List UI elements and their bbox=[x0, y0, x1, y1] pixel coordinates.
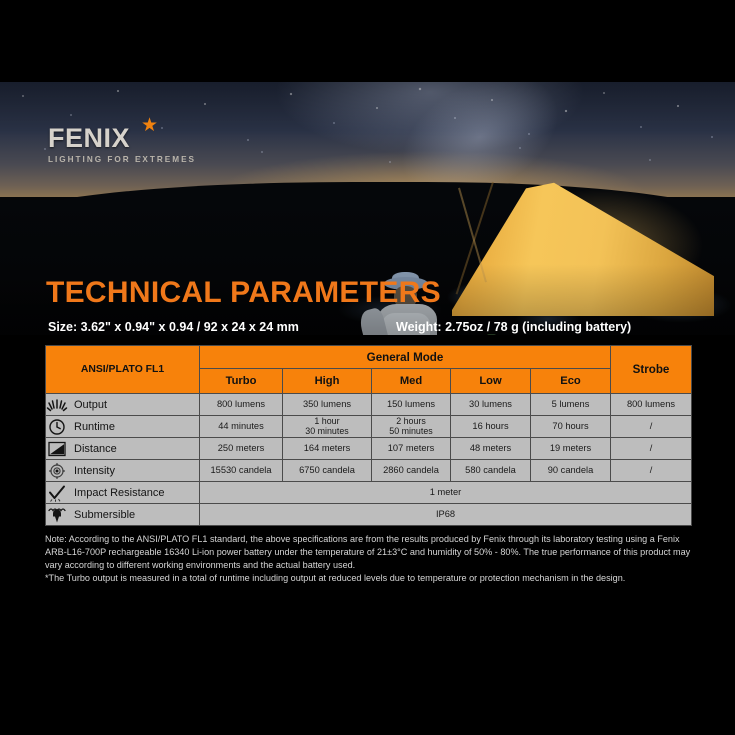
clock-icon bbox=[46, 418, 68, 436]
table-row: Output800 lumens350 lumens150 lumens30 l… bbox=[46, 394, 692, 416]
row-value-cell: 90 candela bbox=[531, 460, 611, 482]
row-label-cell: Intensity bbox=[46, 460, 200, 482]
footnote-paragraph-1: Note: According to the ANSI/PLATO FL1 st… bbox=[45, 533, 693, 572]
header-mode-turbo: Turbo bbox=[200, 369, 283, 394]
header-mode-high: High bbox=[283, 369, 372, 394]
header-strobe: Strobe bbox=[611, 346, 692, 394]
header-mode-low: Low bbox=[451, 369, 531, 394]
row-value-span: 1 meter bbox=[200, 482, 692, 504]
row-value-cell: 30 lumens bbox=[451, 394, 531, 416]
header-mode-med: Med bbox=[372, 369, 451, 394]
row-value-cell: 1 hour30 minutes bbox=[283, 416, 372, 438]
table-header-row-group: ANSI/PLATO FL1 General Mode Strobe bbox=[46, 346, 692, 369]
logo-wordmark: FENIX bbox=[48, 125, 196, 152]
row-label-cell: Impact Resistance bbox=[46, 482, 200, 504]
footnote-block: Note: According to the ANSI/PLATO FL1 st… bbox=[45, 533, 693, 585]
water-drop-icon bbox=[46, 506, 68, 524]
row-value-cell: 250 meters bbox=[200, 438, 283, 460]
product-spec-page: ★ FENIX LIGHTING FOR EXTREMES TECHNICAL … bbox=[0, 0, 735, 735]
row-label-text: Distance bbox=[74, 443, 117, 455]
row-strobe-cell: / bbox=[611, 416, 692, 438]
row-value-cell: 2 hours50 minutes bbox=[372, 416, 451, 438]
row-value-cell: 350 lumens bbox=[283, 394, 372, 416]
table-head: ANSI/PLATO FL1 General Mode Strobe Turbo… bbox=[46, 346, 692, 394]
header-general-mode: General Mode bbox=[200, 346, 611, 369]
size-weight-line: Size: 3.62" x 0.94" x 0.94 / 92 x 24 x 2… bbox=[48, 320, 688, 336]
table-row: Runtime44 minutes1 hour30 minutes2 hours… bbox=[46, 416, 692, 438]
beam-distance-icon bbox=[46, 440, 68, 458]
header-ansi-plato: ANSI/PLATO FL1 bbox=[46, 346, 200, 394]
row-strobe-cell: 800 lumens bbox=[611, 394, 692, 416]
table-row: Intensity15530 candela6750 candela2860 c… bbox=[46, 460, 692, 482]
row-label-text: Runtime bbox=[74, 421, 115, 433]
row-value-cell: 164 meters bbox=[283, 438, 372, 460]
row-label-cell: Submersible bbox=[46, 504, 200, 526]
row-strobe-cell: / bbox=[611, 438, 692, 460]
row-label-text: Submersible bbox=[74, 509, 135, 521]
row-value-cell: 580 candela bbox=[451, 460, 531, 482]
row-label-text: Intensity bbox=[74, 465, 115, 477]
row-strobe-cell: / bbox=[611, 460, 692, 482]
table-body: Output800 lumens350 lumens150 lumens30 l… bbox=[46, 394, 692, 526]
technical-parameters-table: ANSI/PLATO FL1 General Mode Strobe Turbo… bbox=[45, 345, 692, 526]
page-title: TECHNICAL PARAMETERS bbox=[46, 278, 441, 308]
row-value-cell: 800 lumens bbox=[200, 394, 283, 416]
row-label-cell: Distance bbox=[46, 438, 200, 460]
row-value-cell: 2860 candela bbox=[372, 460, 451, 482]
row-value-span: IP68 bbox=[200, 504, 692, 526]
fenix-logo: ★ FENIX LIGHTING FOR EXTREMES bbox=[48, 125, 196, 164]
light-burst-icon bbox=[46, 396, 68, 414]
checkmark-impact-icon bbox=[46, 484, 68, 502]
row-value-cell: 48 meters bbox=[451, 438, 531, 460]
header-mode-eco: Eco bbox=[531, 369, 611, 394]
row-value-cell: 15530 candela bbox=[200, 460, 283, 482]
row-value-cell: 5 lumens bbox=[531, 394, 611, 416]
row-label-text: Output bbox=[74, 399, 107, 411]
row-value-cell: 19 meters bbox=[531, 438, 611, 460]
footnote-paragraph-2: *The Turbo output is measured in a total… bbox=[45, 572, 693, 585]
size-text: Size: 3.62" x 0.94" x 0.94 / 92 x 24 x 2… bbox=[48, 320, 299, 334]
table-row: Distance250 meters164 meters107 meters48… bbox=[46, 438, 692, 460]
row-value-cell: 150 lumens bbox=[372, 394, 451, 416]
row-value-cell: 44 minutes bbox=[200, 416, 283, 438]
weight-text: Weight: 2.75oz / 78 g (including battery… bbox=[396, 320, 631, 334]
table-row: Impact Resistance1 meter bbox=[46, 482, 692, 504]
row-label-cell: Runtime bbox=[46, 416, 200, 438]
row-value-cell: 6750 candela bbox=[283, 460, 372, 482]
row-value-cell: 107 meters bbox=[372, 438, 451, 460]
row-value-cell: 16 hours bbox=[451, 416, 531, 438]
logo-tagline: LIGHTING FOR EXTREMES bbox=[48, 155, 196, 164]
row-value-cell: 70 hours bbox=[531, 416, 611, 438]
row-label-cell: Output bbox=[46, 394, 200, 416]
table-row: SubmersibleIP68 bbox=[46, 504, 692, 526]
target-intensity-icon bbox=[46, 462, 68, 480]
row-label-text: Impact Resistance bbox=[74, 487, 164, 499]
